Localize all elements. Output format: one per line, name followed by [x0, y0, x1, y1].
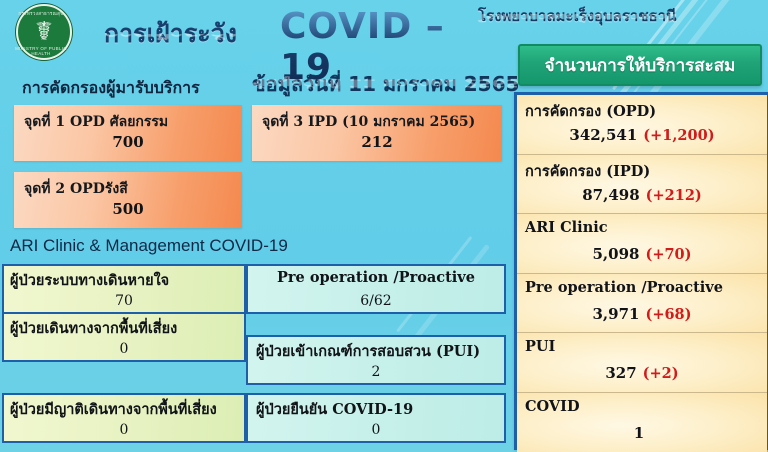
date-heading-reflection: ข้อมูลวันที่ 11 มกราคม 2565 [252, 74, 519, 92]
row-delta: (+68) [645, 306, 691, 323]
row-values: 327(+2) [517, 363, 767, 382]
card-value: 0 [248, 422, 504, 438]
card-pui: ผู้ป่วยเข้าเกณฑ์การสอบสวน (PUI) 2 [246, 335, 506, 385]
hospital-name-reflection: โรงพยาบาลมะเร็งอุบลราชธานี [478, 10, 676, 24]
caduceus-icon: ☤ [35, 19, 52, 45]
logo-arc-top-label: กระทรวงสาธารณสุข [10, 10, 72, 17]
table-row: การคัดกรอง (OPD) 342,541(+1,200) [517, 95, 767, 155]
cumulative-services-panel: การคัดกรอง (OPD) 342,541(+1,200) การคัดก… [514, 92, 768, 450]
card-value: 500 [14, 200, 242, 218]
ari-clinic-section-heading: ARI Clinic & Management COVID-19 [10, 236, 288, 256]
card-value: 700 [14, 133, 242, 151]
row-value: 5,098 [592, 245, 639, 263]
card-label: จุดที่ 1 OPD ศัลยกรรม [24, 111, 168, 133]
row-label: ARI Clinic [525, 219, 608, 236]
screening-card-opd-surgery: จุดที่ 1 OPD ศัลยกรรม 700 [14, 105, 242, 161]
table-row: PUI 327(+2) [517, 333, 767, 393]
row-label: Pre operation /Proactive [525, 279, 723, 296]
screening-card-opd-radiology: จุดที่ 2 OPDรังสี 500 [14, 172, 242, 228]
row-value: 1 [634, 424, 644, 442]
row-label: COVID [525, 398, 580, 415]
table-row: การคัดกรอง (IPD) 87,498(+212) [517, 155, 767, 215]
table-row: Pre operation /Proactive 3,971(+68) [517, 274, 767, 334]
row-value: 3,971 [592, 305, 639, 323]
ari-card-respiratory-patients: ผู้ป่วยระบบทางเดินหายใจ 70 [2, 264, 246, 314]
card-value: 70 [4, 293, 244, 309]
row-label: การคัดกรอง (OPD) [525, 100, 656, 123]
row-value: 342,541 [569, 126, 637, 144]
table-row: ARI Clinic 5,098(+70) [517, 214, 767, 274]
card-label: จุดที่ 2 OPDรังสี [24, 178, 128, 200]
row-value: 327 [605, 364, 636, 382]
card-label: ผู้ป่วยเข้าเกณฑ์การสอบสวน (PUI) [256, 340, 480, 363]
row-values: 342,541(+1,200) [517, 125, 767, 144]
ari-card-relative-travel-from-risk-area: ผู้ป่วยมีญาติเดินทางจากพื้นที่เสี่ยง 0 [2, 393, 246, 443]
row-label: PUI [525, 338, 555, 355]
card-label: Pre operation /Proactive [248, 269, 504, 286]
card-value: 6/62 [248, 293, 504, 309]
row-values: 5,098(+70) [517, 244, 767, 263]
card-value: 0 [4, 341, 244, 357]
row-delta: (+2) [643, 365, 679, 382]
page-title: การเฝ้าระวัง COVID – 19 การเฝ้าระวัง [98, 4, 488, 54]
page-title-reflection: การเฝ้าระวัง [104, 34, 484, 44]
ari-card-travel-from-risk-area: ผู้ป่วยเดินทางจากพื้นที่เสี่ยง 0 [2, 312, 246, 362]
row-values: 3,971(+68) [517, 304, 767, 323]
row-values: 87,498(+212) [517, 185, 767, 204]
row-label: การคัดกรอง (IPD) [525, 160, 650, 183]
card-value: 2 [248, 364, 504, 380]
row-value: 87,498 [582, 186, 639, 204]
card-label: ผู้ป่วยเดินทางจากพื้นที่เสี่ยง [10, 317, 177, 340]
logo-arc-bottom-label: MINISTRY OF PUBLIC HEALTH [10, 46, 72, 56]
card-label: จุดที่ 3 IPD (10 มกราคม 2565) [262, 111, 475, 133]
panel-header-label: จำนวนการให้บริการสะสม [545, 52, 736, 79]
ministry-of-public-health-logo-icon: ☤ กระทรวงสาธารณสุข MINISTRY OF PUBLIC HE… [10, 2, 72, 60]
dashboard-root: ☤ กระทรวงสาธารณสุข MINISTRY OF PUBLIC HE… [0, 0, 768, 452]
row-values: 1 [517, 423, 767, 442]
row-delta: (+212) [646, 187, 702, 204]
screening-section-heading: การคัดกรองผู้มารับบริการ [22, 76, 200, 101]
row-delta: (+70) [645, 246, 691, 263]
screening-card-ipd: จุดที่ 3 IPD (10 มกราคม 2565) 212 [252, 105, 502, 161]
card-value: 212 [252, 133, 502, 151]
cumulative-services-panel-header: จำนวนการให้บริการสะสม [518, 44, 762, 86]
row-delta: (+1,200) [643, 127, 714, 144]
card-label: ผู้ป่วยมีญาติเดินทางจากพื้นที่เสี่ยง [10, 398, 217, 421]
card-value: 0 [4, 422, 244, 438]
card-label: ผู้ป่วยยืนยัน COVID-19 [256, 398, 413, 421]
card-confirmed-covid19: ผู้ป่วยยืนยัน COVID-19 0 [246, 393, 506, 443]
card-pre-operation-proactive: Pre operation /Proactive 6/62 [246, 264, 506, 314]
card-label: ผู้ป่วยระบบทางเดินหายใจ [10, 269, 169, 292]
table-row: COVID 1 [517, 393, 767, 452]
